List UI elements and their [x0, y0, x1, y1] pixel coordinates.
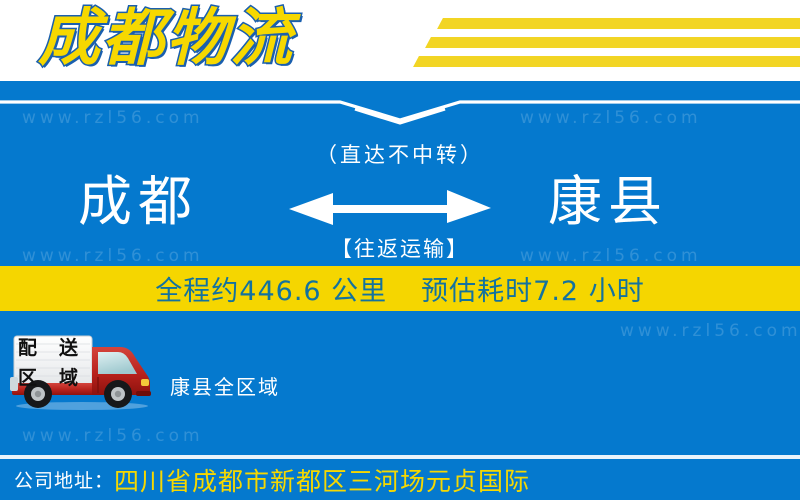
watermark: www.rzl56.com — [620, 321, 800, 341]
direct-transport-note: （直达不中转） — [0, 139, 800, 169]
truck-box-char-2: 送 — [59, 339, 78, 358]
poster-header: 成都物流 — [0, 0, 800, 81]
decorative-stripe-2 — [425, 37, 800, 48]
estimated-duration-stat: 预估耗时7.2 小时 — [421, 269, 645, 308]
double-arrow-icon — [285, 181, 495, 231]
roundtrip-note: 【往返运输】 — [0, 233, 800, 263]
main-blue-panel: www.rzl56.com www.rzl56.com www.rzl56.co… — [0, 81, 800, 500]
watermark: www.rzl56.com — [22, 426, 204, 446]
distance-duration-bar: 全程约446.6 公里 预估耗时7.2 小时 — [0, 266, 800, 311]
footer-address-label: 公司地址： — [14, 466, 114, 493]
footer-address-bar: 公司地址： 四川省成都市新都区三河场元贞国际 — [0, 459, 800, 500]
truck-box-char-1: 配 — [18, 339, 37, 358]
watermark: www.rzl56.com — [520, 108, 702, 128]
logistics-route-poster: 成都物流 www.rzl56.com www.rzl56.com www.rzl… — [0, 0, 800, 500]
origin-city: 成都 — [78, 175, 198, 229]
destination-city: 康县 — [548, 175, 668, 229]
watermark: www.rzl56.com — [22, 108, 204, 128]
truck-box-char-3: 区 — [18, 369, 37, 388]
truck-box-char-4: 域 — [59, 369, 78, 388]
decorative-stripe-3 — [413, 56, 800, 67]
footer-address-value: 四川省成都市新都区三河场元贞国际 — [114, 462, 530, 498]
delivery-area-text: 康县全区域 — [170, 371, 280, 400]
total-distance-stat: 全程约446.6 公里 — [155, 269, 387, 308]
brand-title: 成都物流 — [38, 2, 294, 73]
decorative-stripe-1 — [437, 18, 800, 29]
